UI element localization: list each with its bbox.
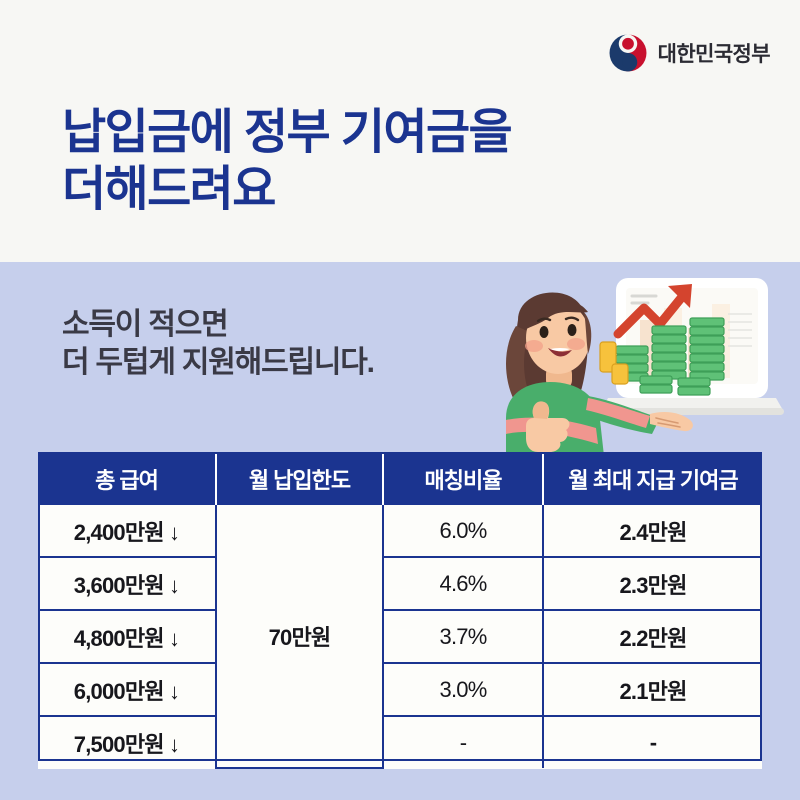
cell-max-contribution: 2.4만원 [543,505,762,557]
illustration [500,268,784,456]
cell-total-salary: 2,400만원 ↓ [38,505,216,557]
cell-max-contribution: 2.2만원 [543,610,762,663]
infographic-poster: 대한민국정부 납입금에 정부 기여금을 더해드려요 소득이 적으면 더 두텁게 … [0,0,800,800]
contribution-rate-table: 총 급여 월 납입한도 매칭비율 월 최대 지급 기여금 2,400만원 ↓ 7… [38,452,762,769]
cell-matching-ratio: - [383,716,543,768]
cell-matching-ratio: 3.0% [383,663,543,716]
table-row: 7,500만원 ↓ - - [38,716,762,768]
cell-monthly-limit: 70만원 [216,505,383,768]
column-header-total-salary: 총 급여 [38,452,216,505]
cell-matching-ratio: 3.7% [383,610,543,663]
table-row: 2,400만원 ↓ 70만원 6.0% 2.4만원 [38,505,762,557]
cell-matching-ratio: 4.6% [383,557,543,610]
table-row: 4,800만원 ↓ 3.7% 2.2만원 [38,610,762,663]
cell-matching-ratio: 6.0% [383,505,543,557]
government-logo-label: 대한민국정부 [658,38,770,68]
cell-total-salary: 3,600만원 ↓ [38,557,216,610]
column-header-monthly-limit: 월 납입한도 [216,452,383,505]
government-logo: 대한민국정부 [607,32,770,74]
subtitle: 소득이 적으면 더 두텁게 지원해드립니다. [62,306,374,383]
cell-total-salary: 4,800만원 ↓ [38,610,216,663]
table-row: 6,000만원 ↓ 3.0% 2.1만원 [38,663,762,716]
cell-total-salary: 7,500만원 ↓ [38,716,216,768]
taegeuk-icon [607,32,649,74]
cell-max-contribution: - [543,716,762,768]
table-header-row: 총 급여 월 납입한도 매칭비율 월 최대 지급 기여금 [38,452,762,505]
cell-max-contribution: 2.1만원 [543,663,762,716]
table-row: 3,600만원 ↓ 4.6% 2.3만원 [38,557,762,610]
cell-max-contribution: 2.3만원 [543,557,762,610]
page-title: 납입금에 정부 기여금을 더해드려요 [62,104,511,218]
column-header-matching-ratio: 매칭비율 [383,452,543,505]
cell-total-salary: 6,000만원 ↓ [38,663,216,716]
column-header-max-contribution: 월 최대 지급 기여금 [543,452,762,505]
